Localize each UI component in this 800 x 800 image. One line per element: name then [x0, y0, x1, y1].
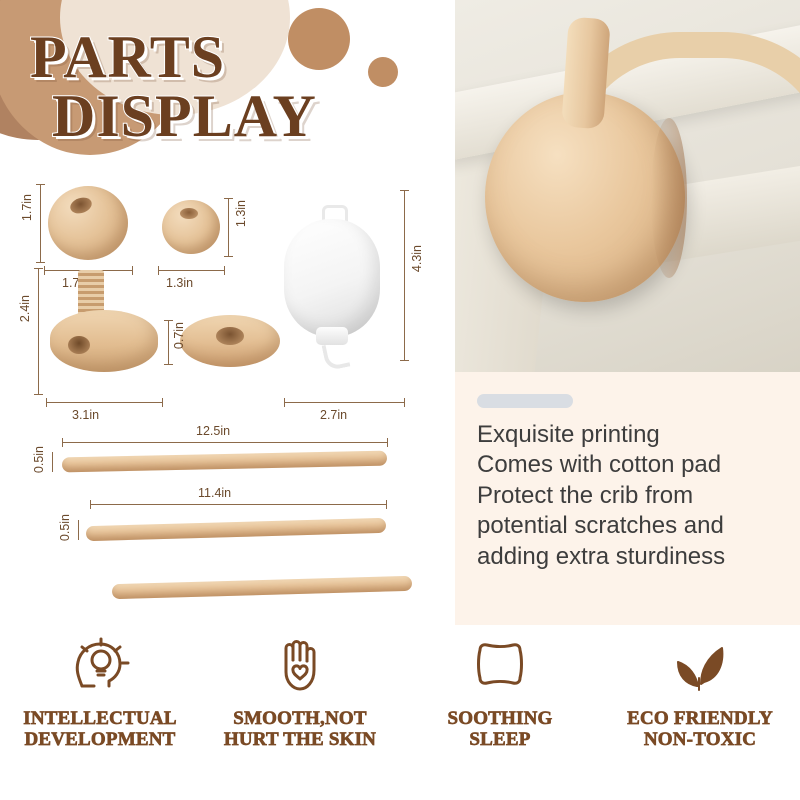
dim-bead2-height: 1.3in — [234, 200, 248, 227]
caption-line-2: DEVELOPMENT — [24, 729, 175, 750]
dim-line — [168, 320, 169, 364]
feature-item-eco-friendly: ECO FRIENDLY NON-TOXIC — [600, 628, 800, 751]
leaf-icon — [600, 628, 800, 700]
caption-line-1: SOOTHING — [447, 708, 552, 729]
dim-mobile-width: 2.7in — [320, 408, 347, 422]
dim-line — [40, 184, 41, 262]
dim-tick — [46, 398, 47, 407]
dim-line — [158, 270, 224, 271]
dim-knob-width: 3.1in — [72, 408, 99, 422]
mobile-hook — [322, 341, 351, 371]
dim-tick — [90, 500, 91, 509]
dim-line — [52, 452, 53, 472]
caption-line-2: NON-TOXIC — [644, 729, 756, 750]
dim-line — [38, 268, 39, 394]
pillow-icon — [400, 628, 600, 700]
dim-tick — [224, 266, 225, 275]
dim-tick — [34, 268, 43, 269]
title-line-1: PARTS — [30, 28, 450, 87]
feature-item-smooth-not-hurt-skin: SMOOTH,NOT HURT THE SKIN — [200, 628, 400, 751]
dim-line — [46, 402, 162, 403]
parts-diagram: 1.7in 1.7in 1.3in 1.3in 2.4in 3.1in 0.7i… — [0, 170, 455, 625]
dim-tick — [387, 438, 388, 447]
wooden-bead-small — [162, 200, 220, 254]
dim-tick — [386, 500, 387, 509]
wooden-post — [561, 17, 611, 130]
dim-tick — [224, 198, 233, 199]
page-title: PARTS DISPLAY — [30, 28, 450, 146]
feature-line-1: Exquisite printing — [477, 420, 787, 450]
feature-text-block: Exquisite printing Comes with cotton pad… — [477, 420, 787, 572]
dim-line — [62, 442, 387, 443]
dim-stick1-diameter: 0.5in — [32, 446, 46, 473]
dim-stick2-diameter: 0.5in — [58, 514, 72, 541]
wooden-flat-disc — [180, 315, 280, 367]
feature-item-intellectual-development: INTELLECTUAL DEVELOPMENT — [0, 628, 200, 751]
head-lightbulb-icon — [0, 628, 200, 700]
dim-line — [404, 190, 405, 360]
feature-text-panel: Exquisite printing Comes with cotton pad… — [455, 372, 800, 625]
product-photo-crib-mount — [455, 0, 800, 372]
dim-tick — [404, 398, 405, 407]
dim-mobile-height: 4.3in — [410, 245, 424, 272]
wooden-stick-long — [62, 451, 387, 473]
dim-tick — [34, 394, 43, 395]
dim-bead1-height: 1.7in — [20, 194, 34, 221]
caption-line-1: ECO FRIENDLY — [627, 708, 773, 729]
wooden-bead-large — [48, 186, 128, 260]
dim-line — [228, 198, 229, 256]
caption-line-1: INTELLECTUAL — [23, 708, 176, 729]
dim-tick — [162, 398, 163, 407]
dim-tick — [44, 266, 45, 275]
dim-tick — [62, 438, 63, 447]
mobile-body — [284, 219, 380, 337]
decorative-pill — [477, 394, 573, 408]
dim-line — [284, 402, 404, 403]
knob-hole — [68, 336, 90, 354]
dim-stick1-length: 12.5in — [196, 424, 230, 438]
feature-caption: SOOTHING SLEEP — [400, 708, 600, 751]
dim-tick — [400, 360, 409, 361]
dim-line — [78, 520, 79, 540]
caption-line-2: HURT THE SKIN — [224, 729, 376, 750]
caption-line-2: SLEEP — [469, 729, 530, 750]
dim-knob-height: 2.4in — [18, 295, 32, 322]
dim-tick — [284, 398, 285, 407]
dim-stick2-length: 11.4in — [198, 486, 231, 500]
wooden-stick-medium — [86, 518, 386, 541]
feature-line-3: Protect the crib from — [477, 481, 787, 511]
dim-tick — [164, 320, 173, 321]
dim-tick — [158, 266, 159, 275]
wooden-screw-knob — [50, 310, 158, 372]
music-box-mobile — [284, 205, 380, 343]
feature-caption: INTELLECTUAL DEVELOPMENT — [0, 708, 200, 751]
bead-hole — [68, 195, 94, 216]
title-line-2: DISPLAY — [52, 87, 450, 146]
caption-line-1: SMOOTH,NOT — [233, 708, 366, 729]
feature-icon-row: INTELLECTUAL DEVELOPMENT SMOOTH,NOT HURT… — [0, 628, 800, 800]
disc-hole — [216, 327, 244, 345]
feature-caption: SMOOTH,NOT HURT THE SKIN — [200, 708, 400, 751]
dim-tick — [132, 266, 133, 275]
feature-item-soothing-sleep: SOOTHING SLEEP — [400, 628, 600, 751]
feature-line-4: potential scratches and — [477, 511, 787, 541]
dim-tick — [36, 184, 45, 185]
bead-hole — [180, 208, 198, 219]
dim-tick — [224, 256, 233, 257]
hand-heart-icon — [200, 628, 400, 700]
feature-caption: ECO FRIENDLY NON-TOXIC — [600, 708, 800, 751]
dim-tick — [400, 190, 409, 191]
product-infographic: PARTS DISPLAY 1.7in 1.7in 1.3in 1.3in 2.… — [0, 0, 800, 800]
wooden-stick-short — [112, 576, 412, 599]
feature-line-2: Comes with cotton pad — [477, 450, 787, 480]
dim-bead2-width: 1.3in — [166, 276, 193, 290]
dim-tick — [164, 364, 173, 365]
dim-disc-height: 0.7in — [172, 322, 186, 349]
dim-line — [90, 504, 386, 505]
dim-tick — [36, 262, 45, 263]
feature-line-5: adding extra sturdiness — [477, 542, 787, 572]
